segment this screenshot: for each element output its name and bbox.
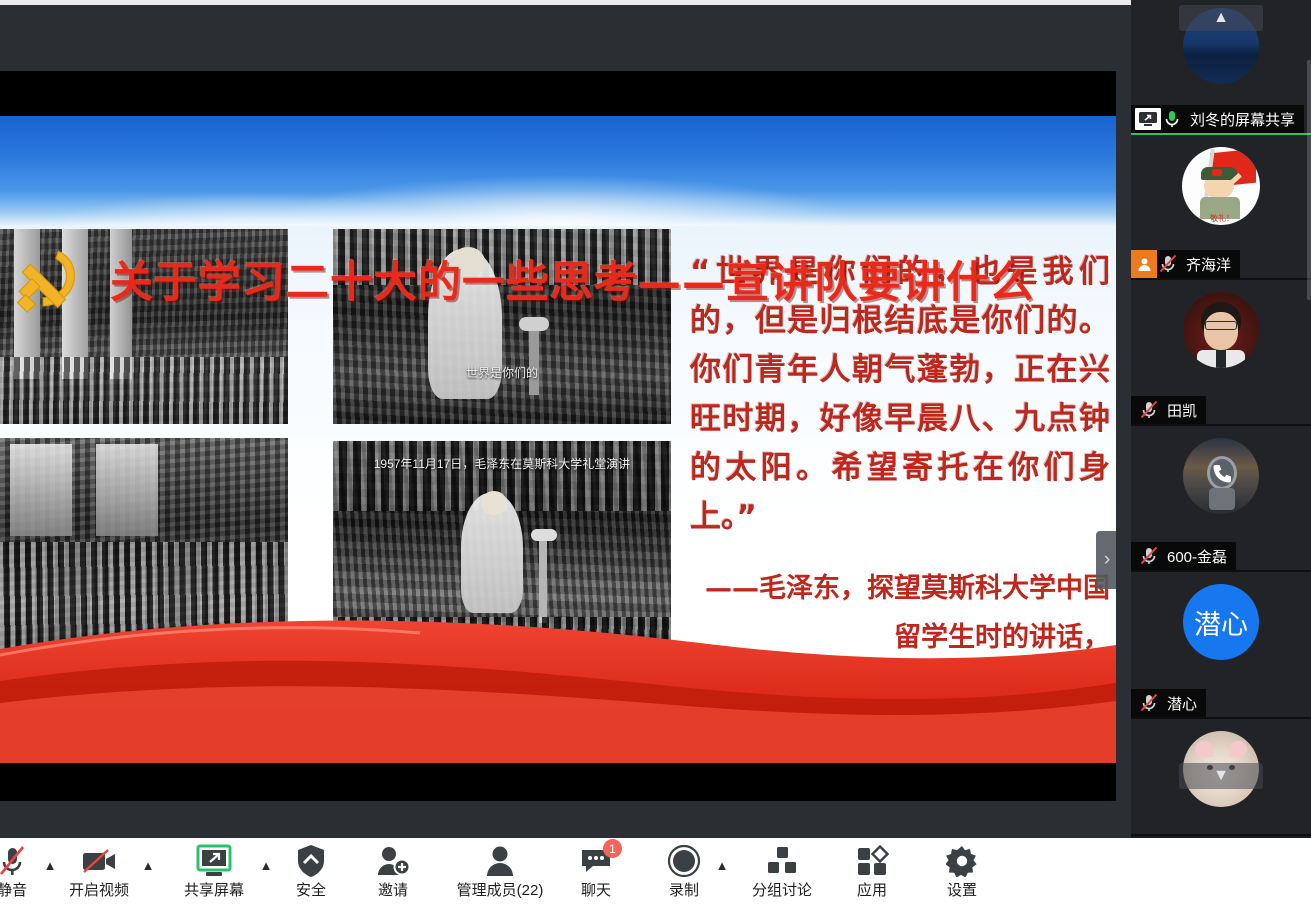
zoom-meeting-window: 关于学习二十大的一些思考——宣讲队要讲什么 世界是你们的 [0, 0, 1311, 905]
toolbar-items: 静音 ▲ 开启视频 ▲ 共享屏幕 ▲ [0, 838, 992, 905]
chevron-up-icon: ▲ [1213, 9, 1229, 27]
participant-name-4: 潜心 [1167, 693, 1197, 714]
toolbar-label-invite: 邀请 [378, 879, 408, 900]
mic-muted-icon [1138, 399, 1160, 421]
participant-namebar-2: 田凯 [1131, 396, 1206, 424]
stage-black-bar-top [0, 71, 1116, 116]
avatar-initials: 潜心 [1183, 584, 1259, 660]
chevron-right-icon: › [1104, 549, 1110, 571]
mic-muted-icon [1157, 253, 1179, 275]
toolbar-button-mute[interactable]: 静音 [0, 838, 40, 900]
toolbar-button-invite[interactable]: 邀请 [362, 838, 424, 900]
participant-name-0: 刘冬的屏幕共享 [1190, 109, 1295, 130]
participant-video-1: 敬礼！ 齐海洋 [1131, 135, 1311, 278]
slide-title: 关于学习二十大的一些思考——宣讲队要讲什么 [110, 248, 1070, 308]
shield-icon [296, 844, 326, 878]
mic-muted-icon [1138, 692, 1160, 714]
toolbar-label-breakout-rooms: 分组讨论 [752, 879, 812, 900]
avatar-initials-text: 潜心 [1194, 603, 1248, 642]
mute-options-caret[interactable]: ▲ [40, 858, 60, 873]
participant-tile-0[interactable]: ▲ 刘冬的屏幕共享 [1131, 0, 1311, 135]
screen-share-icon [1135, 108, 1161, 130]
participant-namebar-0: 刘冬的屏幕共享 [1131, 105, 1304, 133]
chevron-down-icon: ▼ [1213, 767, 1229, 785]
stage-black-bar-bottom [0, 763, 1116, 801]
participants-filmstrip[interactable]: ▲ 刘冬的屏幕共享 [1131, 0, 1311, 838]
toolbar-button-start-video[interactable]: 开启视频 [60, 838, 138, 900]
participant-name-3: 600-金磊 [1167, 546, 1227, 567]
participant-namebar-3: 600-金磊 [1131, 542, 1236, 570]
slide-photo-2-caption: 世界是你们的 [333, 364, 671, 381]
avatar: 敬礼！ [1182, 147, 1260, 225]
participant-tile-3[interactable]: 600-金磊 [1131, 426, 1311, 572]
toolbar-label-chat: 聊天 [581, 879, 611, 900]
toolbar-button-settings[interactable]: 设置 [932, 838, 992, 900]
toolbar-button-record[interactable]: 录制 [656, 838, 712, 900]
toolbar-label-mute: 静音 [0, 879, 27, 900]
toolbar-label-apps: 应用 [857, 879, 887, 900]
participant-video-2: 田凯 [1131, 280, 1311, 424]
participant-video-5: ▼ [1131, 719, 1311, 834]
toolbar-label-record: 录制 [669, 879, 699, 900]
participant-name-1: 齐海洋 [1186, 254, 1231, 275]
invite-user-icon [376, 844, 410, 878]
mic-muted-icon [1138, 545, 1160, 567]
participant-video-0: ▲ 刘冬的屏幕共享 [1131, 0, 1311, 133]
participant-tile-1[interactable]: 敬礼！ 齐海洋 [1131, 135, 1311, 280]
participant-tile-5[interactable]: ▼ [1131, 719, 1311, 836]
toolbar-label-share-screen: 共享屏幕 [184, 879, 244, 900]
apps-icon [855, 844, 889, 878]
slide-sky-background [0, 116, 1116, 226]
participants-scrollbar[interactable] [1307, 0, 1311, 838]
breakout-rooms-icon [765, 844, 799, 878]
slide-red-ribbon-decoration [0, 603, 1116, 763]
toolbar-button-participants[interactable]: 管理成员(22) [446, 838, 554, 900]
shared-slide[interactable]: 关于学习二十大的一些思考——宣讲队要讲什么 世界是你们的 [0, 116, 1116, 763]
video-off-icon [79, 844, 119, 878]
toolbar-button-share-screen[interactable]: 共享屏幕 [172, 838, 256, 900]
chat-unread-badge: 1 [603, 839, 622, 858]
participant-tile-4[interactable]: 潜心 潜心 [1131, 572, 1311, 719]
gear-icon [946, 844, 978, 878]
record-options-caret[interactable]: ▲ [712, 858, 732, 873]
toolbar-button-apps[interactable]: 应用 [842, 838, 902, 900]
video-options-caret[interactable]: ▲ [138, 858, 158, 873]
toolbar-button-security[interactable]: 安全 [282, 838, 340, 900]
scroll-down-button[interactable]: ▼ [1179, 763, 1263, 789]
avatar [1183, 438, 1259, 514]
stage-letterbox-top [0, 5, 1116, 71]
toolbar-button-chat[interactable]: 1 聊天 [564, 838, 628, 900]
toolbar-label-participants: 管理成员(22) [457, 879, 544, 900]
host-badge-icon [1131, 250, 1157, 278]
participant-name-2: 田凯 [1167, 400, 1197, 421]
mic-on-icon [1161, 108, 1183, 130]
party-emblem-icon [8, 244, 88, 326]
slide-photo-4-caption: 1957年11月17日，毛泽东在莫斯科大学礼堂演讲 [333, 455, 671, 472]
toolbar-button-breakout-rooms[interactable]: 分组讨论 [738, 838, 826, 900]
mic-muted-icon [0, 844, 27, 878]
scroll-up-button[interactable]: ▲ [1179, 5, 1263, 31]
participant-tile-2[interactable]: 田凯 [1131, 280, 1311, 426]
stage-bottom-fill [0, 801, 1131, 838]
participants-icon [484, 844, 516, 878]
toolbar-label-security: 安全 [296, 879, 326, 900]
avatar [1183, 292, 1259, 368]
record-icon [667, 844, 701, 878]
shared-content-stage: 关于学习二十大的一些思考——宣讲队要讲什么 世界是你们的 [0, 5, 1131, 838]
participant-namebar-4: 潜心 [1131, 689, 1206, 717]
share-options-caret[interactable]: ▲ [256, 858, 276, 873]
participant-namebar-1: 齐海洋 [1131, 250, 1240, 278]
toolbar-label-settings: 设置 [947, 879, 977, 900]
stage-right-fill [1116, 5, 1131, 838]
participant-video-3: 600-金磊 [1131, 426, 1311, 570]
meeting-toolbar: 静音 ▲ 开启视频 ▲ 共享屏幕 ▲ [0, 838, 1311, 905]
share-screen-icon [195, 844, 233, 878]
slide-collapse-button[interactable]: › [1096, 531, 1116, 589]
toolbar-label-start-video: 开启视频 [69, 879, 129, 900]
participant-video-4: 潜心 潜心 [1131, 572, 1311, 717]
